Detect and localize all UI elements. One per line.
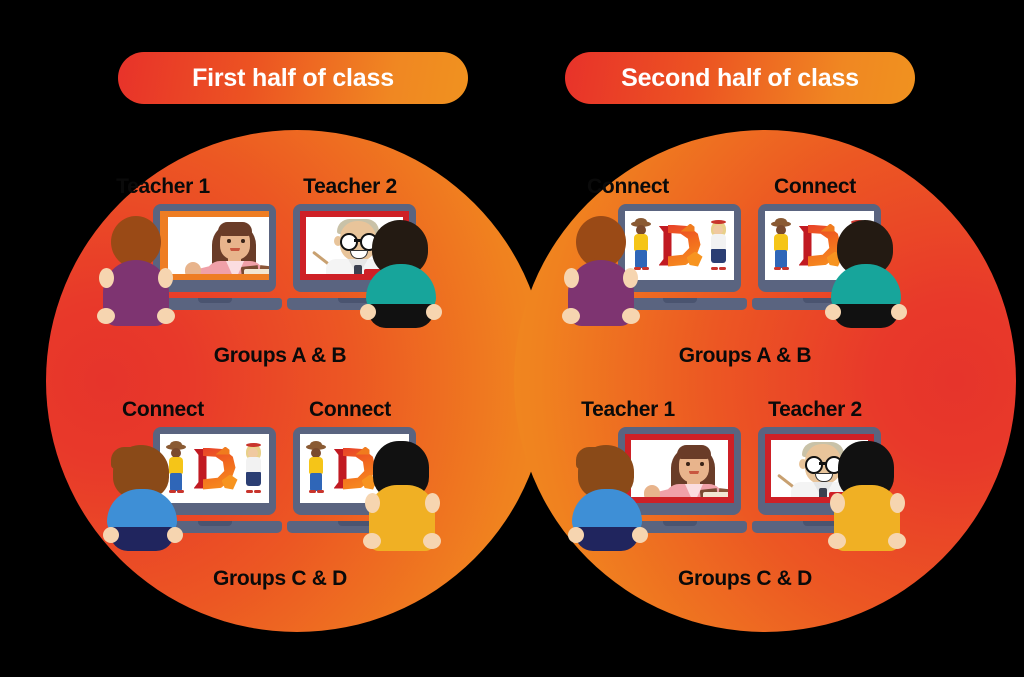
first-half-bottom-row: Connect Connect [95,395,465,585]
group-label: Groups A & B [679,344,812,368]
second-half-bottom-row: Teacher 1 Teacher 2 [560,395,930,585]
laptop-notch [663,298,697,303]
dragon-d-glyph [192,447,238,491]
second-half-pill-label: Second half of class [621,64,859,93]
first-half-top-row: Teacher 1 Teacher 2 [95,172,465,362]
diagram-canvas: First half of class Second half of class… [0,0,1024,677]
group-label: Groups C & D [213,567,347,591]
group-label: Groups C & D [678,567,812,591]
student-back-view-icon [825,220,907,332]
station-label-connect: Connect [587,175,669,199]
student-back-view-icon [828,441,910,553]
student-back-view-icon [95,216,177,328]
station-label-connect: Connect [309,398,391,422]
station-labels: Connect Connect [560,172,930,202]
student-back-view-icon [560,216,642,328]
station-label-connect: Connect [122,398,204,422]
second-half-top-row: Connect Connect [560,172,930,362]
second-half-pill: Second half of class [565,52,915,104]
student-back-view-icon [103,445,185,557]
laptop-notch [663,521,697,526]
student-back-view-icon [360,220,442,332]
laptop-notch [198,298,232,303]
station-label-connect: Connect [774,175,856,199]
group-label: Groups A & B [214,344,347,368]
station-labels: Teacher 1 Teacher 2 [560,395,930,425]
laptop-notch [198,521,232,526]
station-label-teacher-1: Teacher 1 [116,175,210,199]
dragon-d-glyph [657,224,703,268]
student-back-view-icon [363,441,445,553]
station-labels: Teacher 1 Teacher 2 [95,172,465,202]
student-back-view-icon [568,445,650,557]
station-labels: Connect Connect [95,395,465,425]
station-label-teacher-2: Teacher 2 [303,175,397,199]
first-half-pill-label: First half of class [192,64,394,93]
station-label-teacher-2: Teacher 2 [768,398,862,422]
first-half-pill: First half of class [118,52,468,104]
station-label-teacher-1: Teacher 1 [581,398,675,422]
